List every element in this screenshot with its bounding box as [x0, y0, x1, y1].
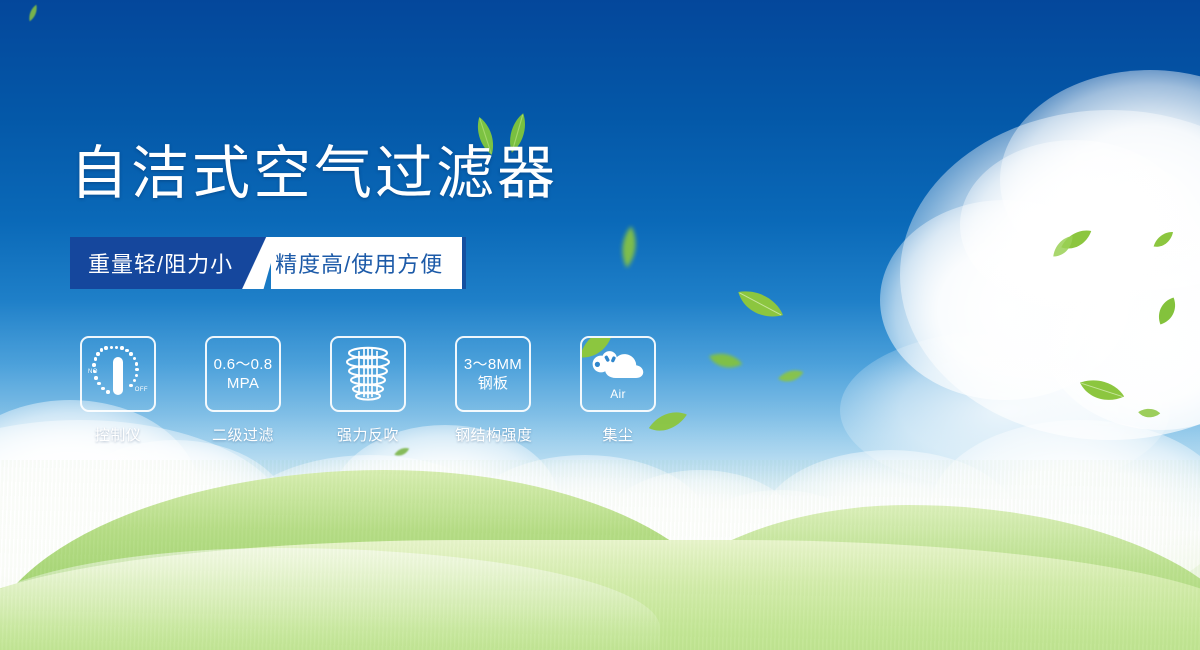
feature-label: 二级过滤: [205, 424, 281, 445]
cloud-graphic: [589, 348, 647, 384]
feature-dust-collection[interactable]: Air 集尘: [580, 336, 656, 445]
banner-content: 自洁式空气过滤器 重量轻/阻力小 精度高/使用方便 NO OFF: [0, 0, 1200, 650]
steel-material-label: 钢板: [478, 374, 509, 393]
gauge-needle: [113, 357, 123, 395]
pressure-text-icon: 0.6～0.8 MPA: [205, 336, 281, 412]
cloud-air-label: Air: [610, 385, 626, 404]
tagline-primary: 重量轻/阻力小: [70, 237, 253, 289]
pressure-range-value: 0.6～0.8: [214, 355, 273, 374]
gauge-graphic: NO OFF: [87, 346, 149, 402]
feature-label: 强力反吹: [330, 424, 406, 445]
cartridge-graphic: [343, 346, 393, 402]
pressure-unit: MPA: [227, 374, 259, 393]
feature-back-blow[interactable]: 强力反吹: [330, 336, 406, 445]
filter-cartridge-icon: [330, 336, 406, 412]
cloud-air-icon: Air: [580, 336, 656, 412]
feature-steel-strength[interactable]: 3～8MM 钢板 钢结构强度: [455, 336, 531, 445]
tagline-secondary: 精度高/使用方便: [271, 237, 462, 289]
page-title: 自洁式空气过滤器: [70, 141, 558, 207]
feature-label: 控制仪: [80, 424, 156, 445]
gauge-dial-icon: NO OFF: [80, 336, 156, 412]
feature-label: 钢结构强度: [455, 424, 531, 445]
gauge-off-label: OFF: [135, 387, 148, 393]
steel-thickness-value: 3～8MM: [464, 355, 522, 374]
product-hero-banner: 自洁式空气过滤器 重量轻/阻力小 精度高/使用方便 NO OFF: [0, 0, 1200, 650]
feature-controller[interactable]: NO OFF: [80, 336, 156, 445]
subtitle-tagline-bar: 重量轻/阻力小 精度高/使用方便: [70, 237, 462, 289]
feature-icon-row: NO OFF: [80, 336, 656, 445]
steel-plate-text-icon: 3～8MM 钢板: [455, 336, 531, 412]
feature-two-stage-filtration[interactable]: 0.6～0.8 MPA 二级过滤: [205, 336, 281, 445]
feature-label: 集尘: [580, 424, 656, 445]
